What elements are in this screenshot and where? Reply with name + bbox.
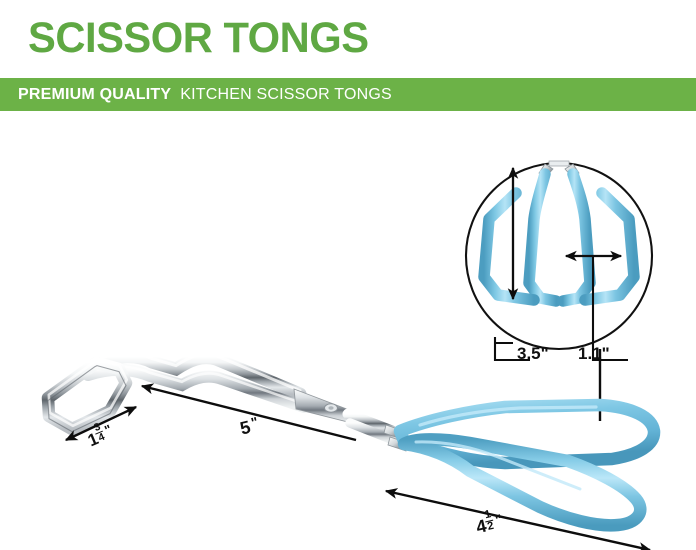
detail-height-label: 3.5" (517, 345, 549, 362)
page-title: SCISSOR TONGS (28, 12, 369, 64)
product-illustration (0, 111, 696, 550)
subtitle-normal: KITCHEN SCISSOR TONGS (180, 86, 392, 104)
pivot-joint (294, 389, 352, 423)
silicone-head-lower (404, 439, 640, 525)
detail-width-label: 1.1" (578, 345, 610, 362)
subtitle-bold: PREMIUM QUALITY (18, 86, 171, 104)
detail-circle-outline (466, 163, 652, 349)
detail-circle-callout (466, 161, 652, 421)
infographic-page: SCISSOR TONGS PREMIUM QUALITY KITCHEN SC… (0, 0, 696, 550)
subtitle-text: PREMIUM QUALITY KITCHEN SCISSOR TONGS (18, 78, 392, 111)
handle-loop (48, 360, 127, 432)
